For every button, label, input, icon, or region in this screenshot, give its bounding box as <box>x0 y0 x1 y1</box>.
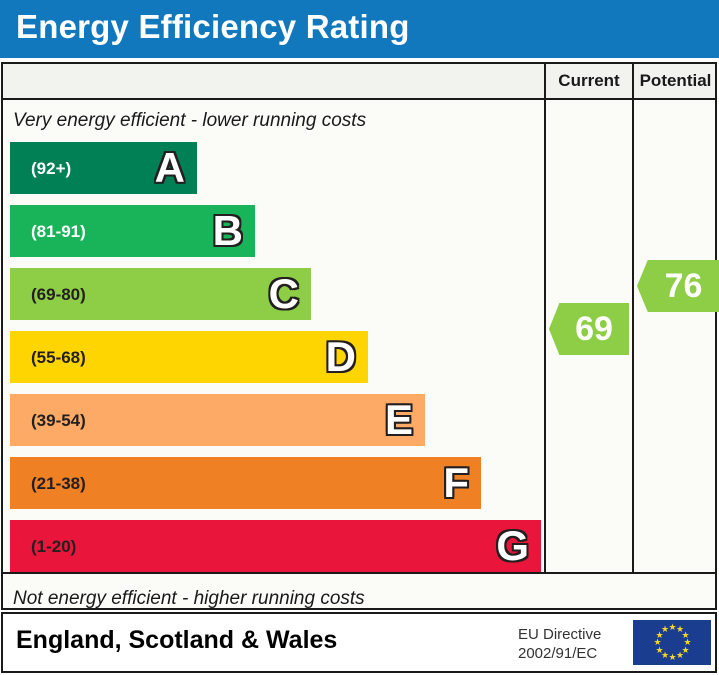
rating-table: Current Potential Very energy efficient … <box>1 62 717 610</box>
divider-current <box>544 100 546 572</box>
score-arrow-current: 69 <box>549 303 629 355</box>
energy-efficiency-rating-chart: Energy Efficiency Rating Current Potenti… <box>0 0 719 675</box>
band-letter-label: D <box>326 336 356 378</box>
footer-directive: EU Directive 2002/91/EC <box>518 626 601 664</box>
footer-region-label: England, Scotland & Wales <box>16 626 337 655</box>
score-arrow-potential: 76 <box>637 260 719 312</box>
eu-star: ★ <box>669 624 676 631</box>
band-letter-label: C <box>269 273 299 315</box>
caption-inefficient: Not energy efficient - higher running co… <box>13 588 365 610</box>
rating-band-c: (69-80)C <box>10 268 311 320</box>
divider-potential <box>632 100 634 572</box>
band-letter-label: E <box>385 399 413 441</box>
band-letter-label: G <box>496 525 529 567</box>
footer-directive-line1: EU Directive <box>518 626 601 645</box>
band-range-label: (81-91) <box>31 223 86 240</box>
band-range-label: (21-38) <box>31 475 86 492</box>
column-header-current: Current <box>544 64 632 98</box>
rating-band-d: (55-68)D <box>10 331 368 383</box>
eu-star: ★ <box>676 652 683 659</box>
eu-star: ★ <box>669 654 676 661</box>
band-letter-label: A <box>155 147 185 189</box>
eu-star: ★ <box>654 639 661 646</box>
rating-band-b: (81-91)B <box>10 205 255 257</box>
band-range-label: (69-80) <box>31 286 86 303</box>
rating-band-g: (1-20)G <box>10 520 541 572</box>
eu-star: ★ <box>656 647 663 654</box>
footer-directive-line2: 2002/91/EC <box>518 645 601 664</box>
band-range-label: (1-20) <box>31 538 76 555</box>
rating-band-e: (39-54)E <box>10 394 425 446</box>
chart-title-bar: Energy Efficiency Rating <box>0 0 719 58</box>
band-letter-label: B <box>213 210 243 252</box>
band-range-label: (92+) <box>31 160 71 177</box>
eu-star: ★ <box>661 626 668 633</box>
page-title: Energy Efficiency Rating <box>16 8 410 46</box>
band-letter-label: F <box>443 462 469 504</box>
band-range-label: (39-54) <box>31 412 86 429</box>
eu-flag-icon: ★★★★★★★★★★★★ <box>633 620 711 665</box>
column-header-potential: Potential <box>632 64 717 98</box>
rating-band-a: (92+)A <box>10 142 197 194</box>
caption-efficient: Very energy efficient - lower running co… <box>13 110 366 132</box>
rating-band-f: (21-38)F <box>10 457 481 509</box>
divider-bottom <box>3 572 715 574</box>
chart-footer: England, Scotland & Wales EU Directive 2… <box>1 612 717 673</box>
column-header-row: Current Potential <box>3 64 715 100</box>
band-range-label: (55-68) <box>31 349 86 366</box>
